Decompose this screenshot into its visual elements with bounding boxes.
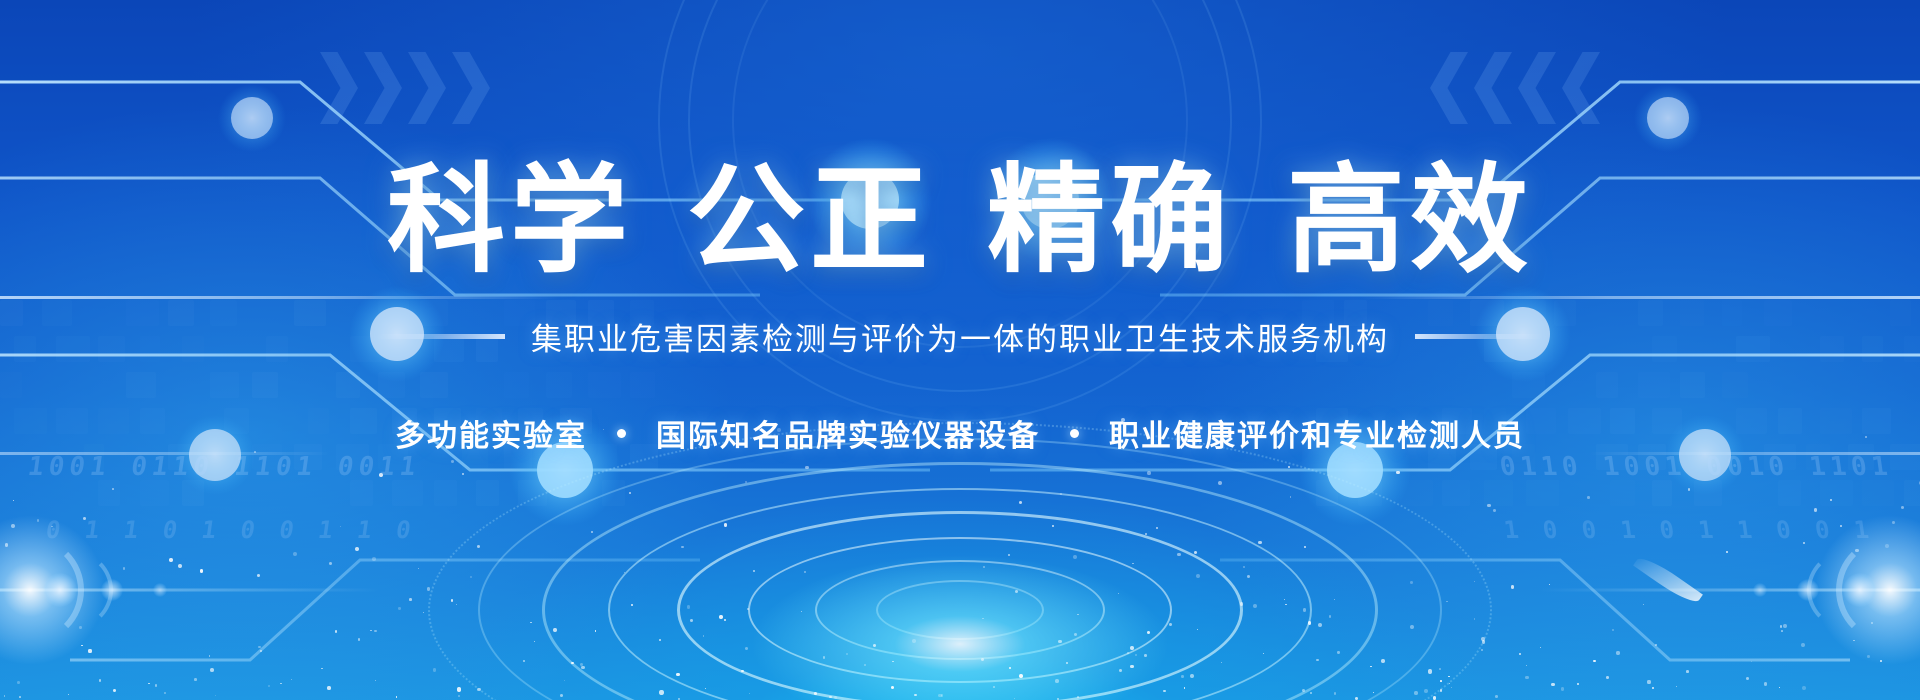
hero-banner: 1001 0110 1101 0011 0 1 1 0 1 0 0 1 1 0 … bbox=[0, 0, 1920, 700]
feature-item-3: 职业健康评价和专业检测人员 bbox=[1109, 411, 1525, 455]
headline: 科学 公正 精确 高效 bbox=[387, 162, 1533, 280]
feature-item-2: 国际知名品牌实验仪器设备 bbox=[656, 411, 1040, 455]
feature-item-1: 多功能实验室 bbox=[395, 411, 587, 455]
banner-content: 科学 公正 精确 高效 集职业危害因素检测与评价为一体的职业卫生技术服务机构 多… bbox=[0, 0, 1920, 700]
headline-word-4: 高效 bbox=[1287, 162, 1533, 280]
headline-word-3: 精确 bbox=[987, 162, 1233, 280]
feature-separator-dot-icon bbox=[617, 429, 626, 438]
subtitle-row: 集职业危害因素检测与评价为一体的职业卫生技术服务机构 bbox=[377, 314, 1543, 359]
headline-word-1: 科学 bbox=[387, 162, 633, 280]
subtitle-divider-right bbox=[1415, 334, 1543, 339]
subtitle-text: 集职业危害因素检测与评价为一体的职业卫生技术服务机构 bbox=[531, 314, 1389, 359]
subtitle-divider-left bbox=[377, 334, 505, 339]
feature-list: 多功能实验室 国际知名品牌实验仪器设备 职业健康评价和专业检测人员 bbox=[395, 411, 1525, 455]
headline-word-2: 公正 bbox=[687, 162, 933, 280]
feature-separator-dot-icon bbox=[1070, 429, 1079, 438]
